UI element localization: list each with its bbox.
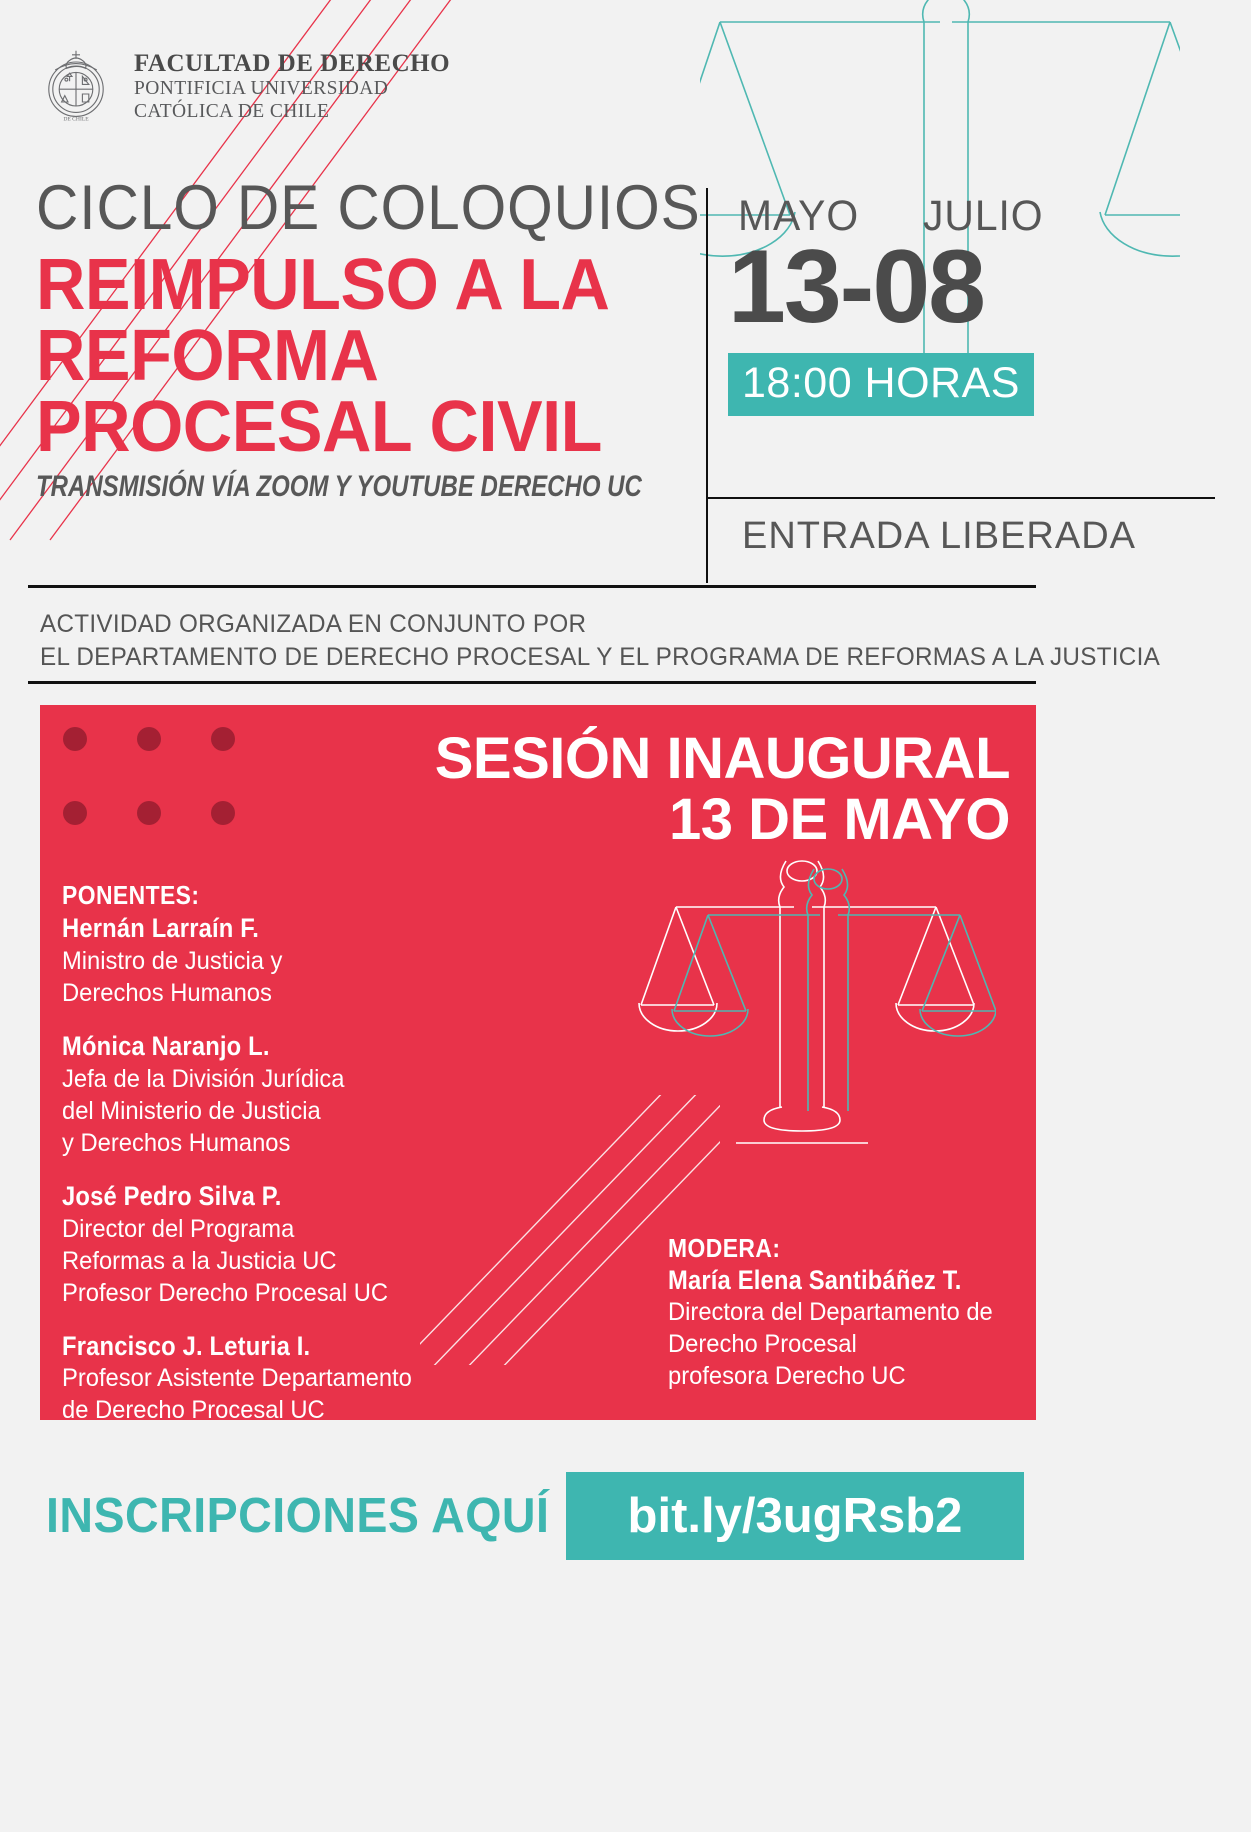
faculty-name: FACULTAD DE DERECHO [134, 50, 450, 77]
speaker-role-line: de Derecho Procesal UC [62, 1394, 461, 1420]
speaker-role-line: Ministro de Justicia y [62, 945, 461, 977]
session-heading: SESIÓN INAUGURAL 13 DE MAYO [435, 729, 1010, 851]
vertical-divider [706, 188, 708, 583]
moderator-title: MODERA: [668, 1233, 985, 1264]
speaker-name: José Pedro Silva P. [62, 1181, 432, 1213]
dot [211, 801, 235, 825]
moderator-role-line: Derecho Procesal [668, 1328, 1010, 1360]
dot-row [63, 727, 235, 751]
speaker-role: Profesor Asistente Departamento de Derec… [62, 1362, 461, 1420]
time-badge: 18:00 HORAS [728, 353, 1034, 416]
speaker-role: Jefa de la División Jurídica del Ministe… [62, 1063, 461, 1159]
speaker-name: Mónica Naranjo L. [62, 1031, 432, 1063]
speaker-role: Director del Programa Reformas a la Just… [62, 1213, 461, 1309]
dot [63, 801, 87, 825]
event-title-line-3: PROCESAL CIVIL [36, 392, 663, 463]
dot [211, 727, 235, 751]
event-subtitle: TRANSMISIÓN VÍA ZOOM Y YOUTUBE DERECHO U… [36, 470, 564, 504]
speaker-name: Francisco J. Leturia I. [62, 1331, 432, 1363]
dot [137, 727, 161, 751]
date-block: MAYO JULIO 13-08 18:00 HORAS [724, 192, 1244, 416]
moderator-name: María Elena Santibáñez T. [668, 1264, 985, 1296]
brand-logo: DE CHILE FACULTAD DE DERECHO PONTIFICIA … [36, 46, 450, 126]
moderator-role-line: profesora Derecho UC [668, 1360, 1010, 1392]
university-line-2: CATÓLICA DE CHILE [134, 100, 450, 123]
dot-row [63, 801, 235, 825]
speaker-role-line: y Derechos Humanos [62, 1127, 461, 1159]
month-labels: MAYO JULIO [724, 192, 1244, 241]
admission-label: ENTRADA LIBERADA [742, 515, 1136, 558]
dot [137, 801, 161, 825]
registration-cta: INSCRIPCIONES AQUÍ bit.ly/3ugRsb2 [0, 1480, 1251, 1568]
organizer-bottom-rule [28, 681, 1036, 684]
speakers-title: PONENTES: [62, 880, 432, 911]
registration-link-text[interactable]: bit.ly/3ugRsb2 [628, 1488, 963, 1544]
speaker-item: José Pedro Silva P. Director del Program… [62, 1181, 482, 1309]
date-divider [706, 497, 1215, 499]
session-panel: SESIÓN INAUGURAL 13 DE MAYO PONENTES: He… [40, 705, 1036, 1420]
speaker-role-line: Profesor Asistente Departamento [62, 1362, 461, 1394]
date-range: 13-08 [724, 235, 1244, 339]
event-title-line-1: REIMPULSO A LA [36, 250, 663, 321]
speaker-role-line: Reformas a la Justicia UC [62, 1245, 461, 1277]
event-title: REIMPULSO A LA REFORMA PROCESAL CIVIL [36, 250, 663, 464]
session-heading-line-1: SESIÓN INAUGURAL [435, 729, 1010, 790]
moderator-role: Directora del Departamento de Derecho Pr… [668, 1296, 1010, 1392]
speaker-role-line: del Ministerio de Justicia [62, 1095, 461, 1127]
moderator-role-line: Directora del Departamento de [668, 1296, 1010, 1328]
speaker-item: Mónica Naranjo L. Jefa de la División Ju… [62, 1031, 482, 1159]
organizer-block: ACTIVIDAD ORGANIZADA EN CONJUNTO POR EL … [40, 608, 1195, 674]
month-end: JULIO [923, 192, 1044, 241]
registration-link-button[interactable]: bit.ly/3ugRsb2 [566, 1472, 1024, 1560]
header-bottom-rule [28, 585, 1036, 588]
event-title-line-2: REFORMA [36, 321, 663, 392]
dot-grid [63, 727, 235, 875]
speaker-item: Francisco J. Leturia I. Profesor Asisten… [62, 1331, 482, 1420]
speaker-role-line: Director del Programa [62, 1213, 461, 1245]
speaker-role: Ministro de Justicia y Derechos Humanos [62, 945, 461, 1009]
dot [63, 727, 87, 751]
month-start: MAYO [738, 192, 859, 241]
organizer-line-1: ACTIVIDAD ORGANIZADA EN CONJUNTO POR [40, 608, 1160, 641]
speaker-role-line: Derechos Humanos [62, 977, 461, 1009]
event-kicker: CICLO DE COLOQUIOS [36, 178, 650, 240]
poster-root: DE CHILE FACULTAD DE DERECHO PONTIFICIA … [0, 0, 1251, 1832]
speaker-item: Hernán Larraín F. Ministro de Justicia y… [62, 913, 482, 1009]
speaker-name: Hernán Larraín F. [62, 913, 432, 945]
uc-crest-icon: DE CHILE [36, 46, 116, 126]
moderator-block: MODERA: María Elena Santibáñez T. Direct… [668, 1233, 1028, 1392]
session-heading-line-2: 13 DE MAYO [435, 790, 1010, 851]
speaker-role-line: Profesor Derecho Procesal UC [62, 1277, 461, 1309]
university-line-1: PONTIFICIA UNIVERSIDAD [134, 77, 450, 100]
title-block: CICLO DE COLOQUIOS REIMPULSO A LA REFORM… [36, 178, 696, 504]
speakers-block: PONENTES: Hernán Larraín F. Ministro de … [62, 880, 482, 1420]
speaker-role-line: Jefa de la División Jurídica [62, 1063, 461, 1095]
registration-label: INSCRIPCIONES AQUÍ [46, 1488, 549, 1544]
svg-text:DE CHILE: DE CHILE [63, 116, 89, 122]
organizer-line-2: EL DEPARTAMENTO DE DERECHO PROCESAL Y EL… [40, 641, 1160, 674]
